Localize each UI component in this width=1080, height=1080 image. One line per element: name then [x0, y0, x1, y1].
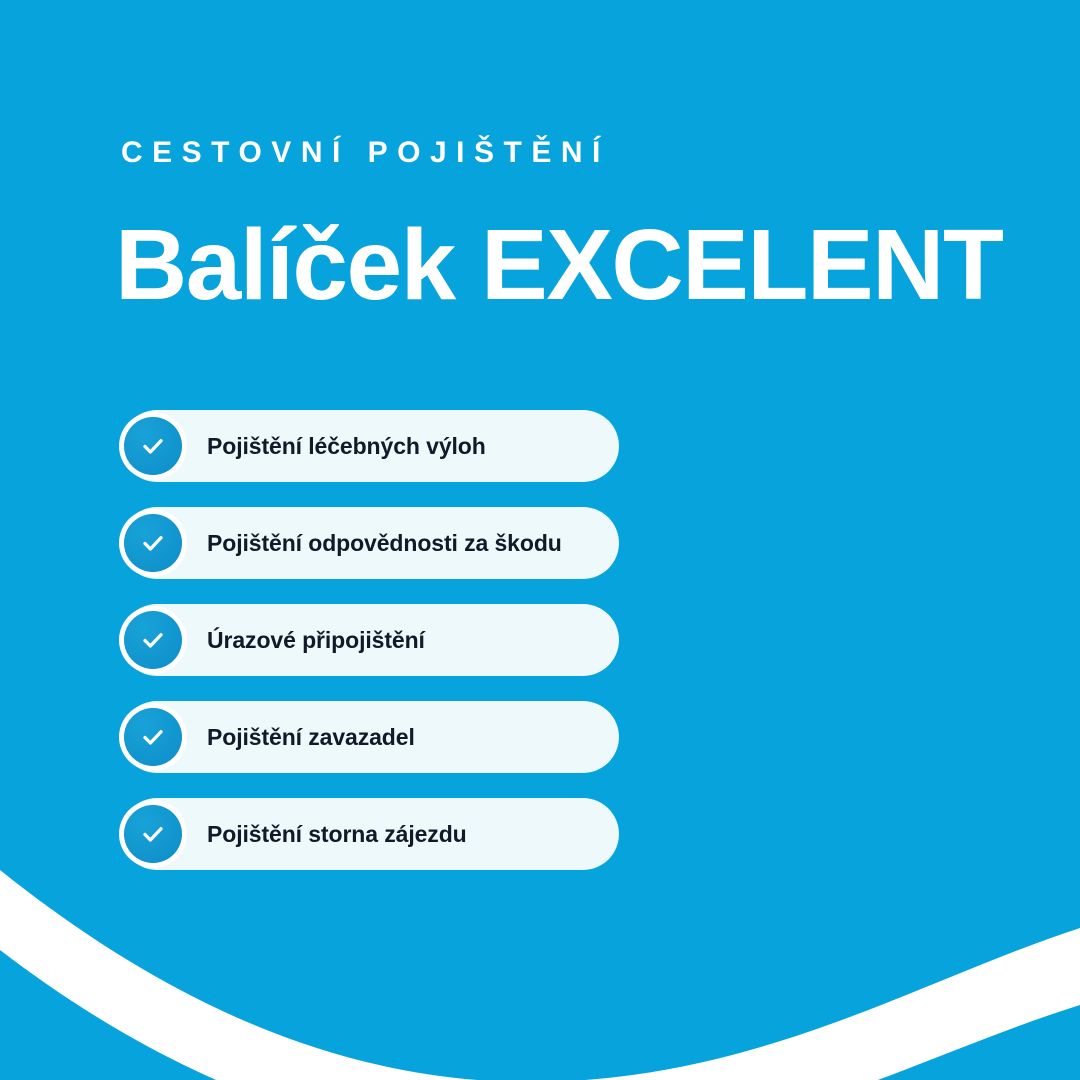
- benefit-list: Pojištění léčebných výloh Pojištění odpo…: [121, 410, 621, 870]
- list-item: Pojištění zavazadel: [121, 701, 619, 773]
- list-item-label: Pojištění odpovědnosti za škodu: [207, 532, 562, 555]
- list-item-label: Úrazové připojištění: [207, 629, 425, 652]
- list-item-label: Pojištění léčebných výloh: [207, 435, 486, 458]
- list-item: Pojištění odpovědnosti za škodu: [121, 507, 619, 579]
- check-icon: [124, 611, 182, 669]
- eyebrow-label: CESTOVNÍ POJIŠTĚNÍ: [121, 138, 610, 168]
- wave-ribbon-icon: [0, 850, 1080, 1080]
- check-icon: [124, 417, 182, 475]
- list-item: Pojištění storna zájezdu: [121, 798, 619, 870]
- list-item: Pojištění léčebných výloh: [121, 410, 619, 482]
- check-icon: [124, 514, 182, 572]
- poster-canvas: CESTOVNÍ POJIŠTĚNÍ Balíček EXCELENT Poji…: [0, 0, 1080, 1080]
- check-icon: [124, 708, 182, 766]
- check-icon: [124, 805, 182, 863]
- list-item-label: Pojištění storna zájezdu: [207, 823, 467, 846]
- page-title: Balíček EXCELENT: [115, 215, 1002, 315]
- list-item-label: Pojištění zavazadel: [207, 726, 415, 749]
- list-item: Úrazové připojištění: [121, 604, 619, 676]
